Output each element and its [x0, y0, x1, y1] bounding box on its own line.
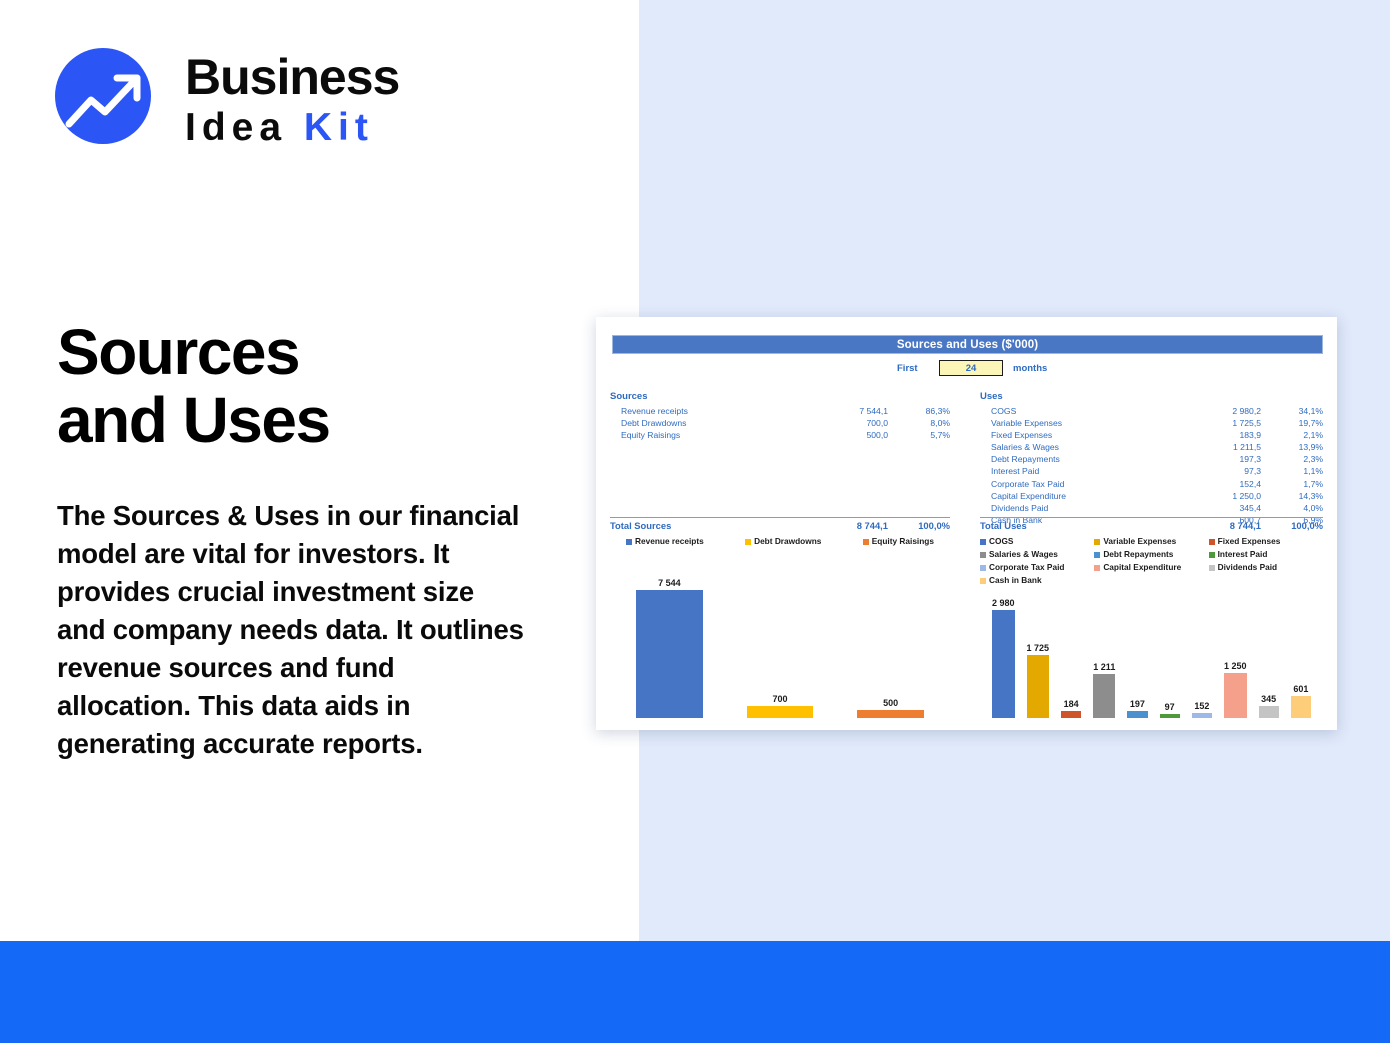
bar-value-label: 184	[1064, 699, 1079, 709]
uses-table-header: Uses	[980, 391, 1323, 402]
bar-column: 2 980	[986, 598, 1021, 718]
logo-text-idea: Idea	[185, 106, 287, 149]
legend-item: Interest Paid	[1209, 548, 1323, 561]
legend-label: Corporate Tax Paid	[989, 561, 1064, 574]
total-label: Total Sources	[610, 519, 816, 533]
bar-rect	[747, 706, 814, 718]
row-value: 152,4	[1189, 478, 1261, 490]
row-label: Dividends Paid	[980, 502, 1189, 514]
legend-item: Capital Expenditure	[1094, 561, 1208, 574]
row-value: 7 544,1	[816, 405, 888, 417]
bar-column: 1 725	[1021, 643, 1056, 718]
bar-value-label: 97	[1165, 702, 1175, 712]
bottom-accent-band	[0, 941, 1390, 1043]
total-value: 8 744,1	[1189, 519, 1261, 533]
row-value: 97,3	[1189, 465, 1261, 477]
uses-plot-area: 2 9801 7251841 211197971521 250345601	[980, 593, 1323, 718]
bar-column: 500	[835, 698, 946, 718]
row-label: Salaries & Wages	[980, 441, 1189, 453]
table-row: Interest Paid 97,3 1,1%	[980, 465, 1323, 477]
table-row: Fixed Expenses 183,9 2,1%	[980, 429, 1323, 441]
sources-chart-legend: Revenue receiptsDebt DrawdownsEquity Rai…	[610, 535, 950, 548]
legend-swatch-icon	[745, 539, 751, 545]
bar-column: 1 211	[1087, 662, 1121, 718]
row-value: 1 250,0	[1189, 490, 1261, 502]
total-value: 8 744,1	[816, 519, 888, 533]
row-label: Interest Paid	[980, 465, 1189, 477]
row-percent: 5,7%	[888, 429, 950, 441]
row-label: Variable Expenses	[980, 417, 1189, 429]
bar-rect	[1160, 714, 1180, 718]
bar-value-label: 500	[883, 698, 898, 708]
row-label: Fixed Expenses	[980, 429, 1189, 441]
uses-bars: 2 9801 7251841 211197971521 250345601	[980, 593, 1323, 718]
bar-value-label: 197	[1130, 699, 1145, 709]
row-label: Debt Repayments	[980, 453, 1189, 465]
card-title-bar: Sources and Uses ($'000)	[612, 335, 1323, 354]
growth-arrow-icon	[55, 48, 151, 144]
bar-value-label: 2 980	[992, 598, 1015, 608]
legend-label: Debt Repayments	[1103, 548, 1173, 561]
row-value: 345,4	[1189, 502, 1261, 514]
legend-label: COGS	[989, 535, 1013, 548]
bar-column: 152	[1186, 701, 1218, 719]
legend-item: Cash in Bank	[980, 574, 1094, 587]
row-value: 183,9	[1189, 429, 1261, 441]
row-value: 1 725,5	[1189, 417, 1261, 429]
bar-column: 1 250	[1218, 661, 1253, 718]
bar-value-label: 700	[772, 694, 787, 704]
sources-bar-chart: Revenue receiptsDebt DrawdownsEquity Rai…	[610, 535, 950, 718]
row-value: 1 211,5	[1189, 441, 1261, 453]
legend-item: Revenue receipts	[626, 535, 704, 548]
row-label: Capital Expenditure	[980, 490, 1189, 502]
bar-rect	[992, 610, 1015, 718]
logo-text-kit: Kit	[304, 106, 374, 149]
months-input[interactable]: 24	[939, 360, 1003, 376]
uses-bar-chart: COGSVariable ExpensesFixed ExpensesSalar…	[980, 535, 1323, 718]
bar-value-label: 7 544	[658, 578, 681, 588]
bar-rect	[1291, 696, 1311, 718]
row-label: Revenue receipts	[610, 405, 816, 417]
bar-rect	[1093, 674, 1115, 718]
legend-item: Dividends Paid	[1209, 561, 1323, 574]
page-description: The Sources & Uses in our financial mode…	[57, 497, 527, 763]
bar-value-label: 1 211	[1093, 662, 1115, 672]
legend-item: Fixed Expenses	[1209, 535, 1323, 548]
legend-item: Salaries & Wages	[980, 548, 1094, 561]
uses-chart-legend: COGSVariable ExpensesFixed ExpensesSalar…	[980, 535, 1323, 587]
sources-table-header: Sources	[610, 391, 950, 402]
spreadsheet-card: Sources and Uses ($'000) First 24 months…	[596, 317, 1337, 730]
logo-wordmark-secondary: Idea Kit	[185, 106, 495, 150]
bar-column: 7 544	[614, 578, 725, 718]
table-row: Variable Expenses 1 725,5 19,7%	[980, 417, 1323, 429]
row-percent: 4,0%	[1261, 502, 1323, 514]
row-percent: 2,1%	[1261, 429, 1323, 441]
row-value: 500,0	[816, 429, 888, 441]
legend-label: Equity Raisings	[872, 535, 934, 548]
legend-label: Interest Paid	[1218, 548, 1268, 561]
row-value: 700,0	[816, 417, 888, 429]
legend-swatch-icon	[1094, 552, 1100, 558]
bar-column: 97	[1154, 702, 1186, 718]
table-row: COGS 2 980,2 34,1%	[980, 405, 1323, 417]
row-value: 197,3	[1189, 453, 1261, 465]
legend-label: Dividends Paid	[1218, 561, 1277, 574]
table-row: Debt Repayments 197,3 2,3%	[980, 453, 1323, 465]
bar-column: 700	[725, 694, 836, 718]
table-row: Debt Drawdowns 700,0 8,0%	[610, 417, 950, 429]
table-row: Equity Raisings 500,0 5,7%	[610, 429, 950, 441]
bar-rect	[1127, 711, 1147, 718]
total-label: Total Uses	[980, 519, 1189, 533]
legend-swatch-icon	[1209, 539, 1215, 545]
legend-swatch-icon	[626, 539, 632, 545]
total-percent: 100,0%	[1261, 519, 1323, 533]
page-title: Sourcesand Uses	[57, 318, 597, 454]
bar-value-label: 601	[1293, 684, 1308, 694]
logo-wordmark-primary: Business	[185, 50, 495, 104]
period-prefix-label: First	[897, 363, 918, 374]
row-percent: 8,0%	[888, 417, 950, 429]
uses-table: Uses COGS 2 980,2 34,1% Variable Expense…	[980, 391, 1323, 526]
row-label: Debt Drawdowns	[610, 417, 816, 429]
bar-rect	[1259, 706, 1279, 719]
bar-column: 197	[1121, 699, 1153, 718]
slide-canvas: Business Idea Kit Sourcesand Uses The So…	[0, 0, 1390, 1043]
legend-item: Debt Drawdowns	[745, 535, 821, 548]
legend-item: Corporate Tax Paid	[980, 561, 1094, 574]
row-percent: 19,7%	[1261, 417, 1323, 429]
row-label: Equity Raisings	[610, 429, 816, 441]
legend-swatch-icon	[1209, 552, 1215, 558]
bar-column: 601	[1285, 684, 1317, 718]
bar-value-label: 152	[1194, 701, 1209, 711]
bar-rect	[1224, 673, 1247, 718]
legend-swatch-icon	[1209, 565, 1215, 571]
legend-label: Cash in Bank	[989, 574, 1042, 587]
bar-value-label: 1 250	[1224, 661, 1247, 671]
row-percent: 2,3%	[1261, 453, 1323, 465]
total-percent: 100,0%	[888, 519, 950, 533]
legend-label: Revenue receipts	[635, 535, 704, 548]
legend-item: Variable Expenses	[1094, 535, 1208, 548]
legend-item: Equity Raisings	[863, 535, 934, 548]
legend-swatch-icon	[1094, 539, 1100, 545]
legend-swatch-icon	[1094, 565, 1100, 571]
row-label: Corporate Tax Paid	[980, 478, 1189, 490]
legend-swatch-icon	[863, 539, 869, 545]
table-row: Revenue receipts 7 544,1 86,3%	[610, 405, 950, 417]
legend-swatch-icon	[980, 539, 986, 545]
legend-swatch-icon	[980, 565, 986, 571]
row-percent: 14,3%	[1261, 490, 1323, 502]
row-percent: 1,7%	[1261, 478, 1323, 490]
legend-label: Fixed Expenses	[1218, 535, 1281, 548]
legend-item: Debt Repayments	[1094, 548, 1208, 561]
bar-column: 345	[1253, 694, 1285, 719]
table-row: Corporate Tax Paid 152,4 1,7%	[980, 478, 1323, 490]
sources-table: Sources Revenue receipts 7 544,1 86,3% D…	[610, 391, 950, 441]
bar-column: 184	[1055, 699, 1087, 718]
brand-logo: Business Idea Kit	[55, 48, 455, 158]
bar-value-label: 1 725	[1027, 643, 1050, 653]
row-percent: 34,1%	[1261, 405, 1323, 417]
bar-value-label: 345	[1261, 694, 1276, 704]
legend-label: Salaries & Wages	[989, 548, 1058, 561]
logo-text-business: Business	[185, 49, 399, 105]
row-percent: 86,3%	[888, 405, 950, 417]
row-value: 2 980,2	[1189, 405, 1261, 417]
legend-label: Debt Drawdowns	[754, 535, 821, 548]
sources-plot-area: 7 544700500	[610, 573, 950, 718]
legend-label: Variable Expenses	[1103, 535, 1176, 548]
row-label: COGS	[980, 405, 1189, 417]
bar-rect	[1061, 711, 1081, 718]
bar-rect	[1027, 655, 1050, 718]
table-row: Dividends Paid 345,4 4,0%	[980, 502, 1323, 514]
sources-total-row: Total Sources 8 744,1 100,0%	[610, 517, 950, 533]
period-suffix-label: months	[1013, 363, 1047, 374]
table-row: Salaries & Wages 1 211,5 13,9%	[980, 441, 1323, 453]
uses-total-row: Total Uses 8 744,1 100,0%	[980, 517, 1323, 533]
row-percent: 1,1%	[1261, 465, 1323, 477]
row-percent: 13,9%	[1261, 441, 1323, 453]
period-selector-row: First 24 months	[612, 360, 1323, 376]
legend-swatch-icon	[980, 552, 986, 558]
bar-rect	[636, 590, 703, 718]
bar-rect	[1192, 713, 1212, 719]
legend-swatch-icon	[980, 578, 986, 584]
bar-rect	[857, 710, 924, 718]
table-row: Capital Expenditure 1 250,0 14,3%	[980, 490, 1323, 502]
legend-label: Capital Expenditure	[1103, 561, 1181, 574]
legend-item: COGS	[980, 535, 1094, 548]
sources-bars: 7 544700500	[610, 573, 950, 718]
